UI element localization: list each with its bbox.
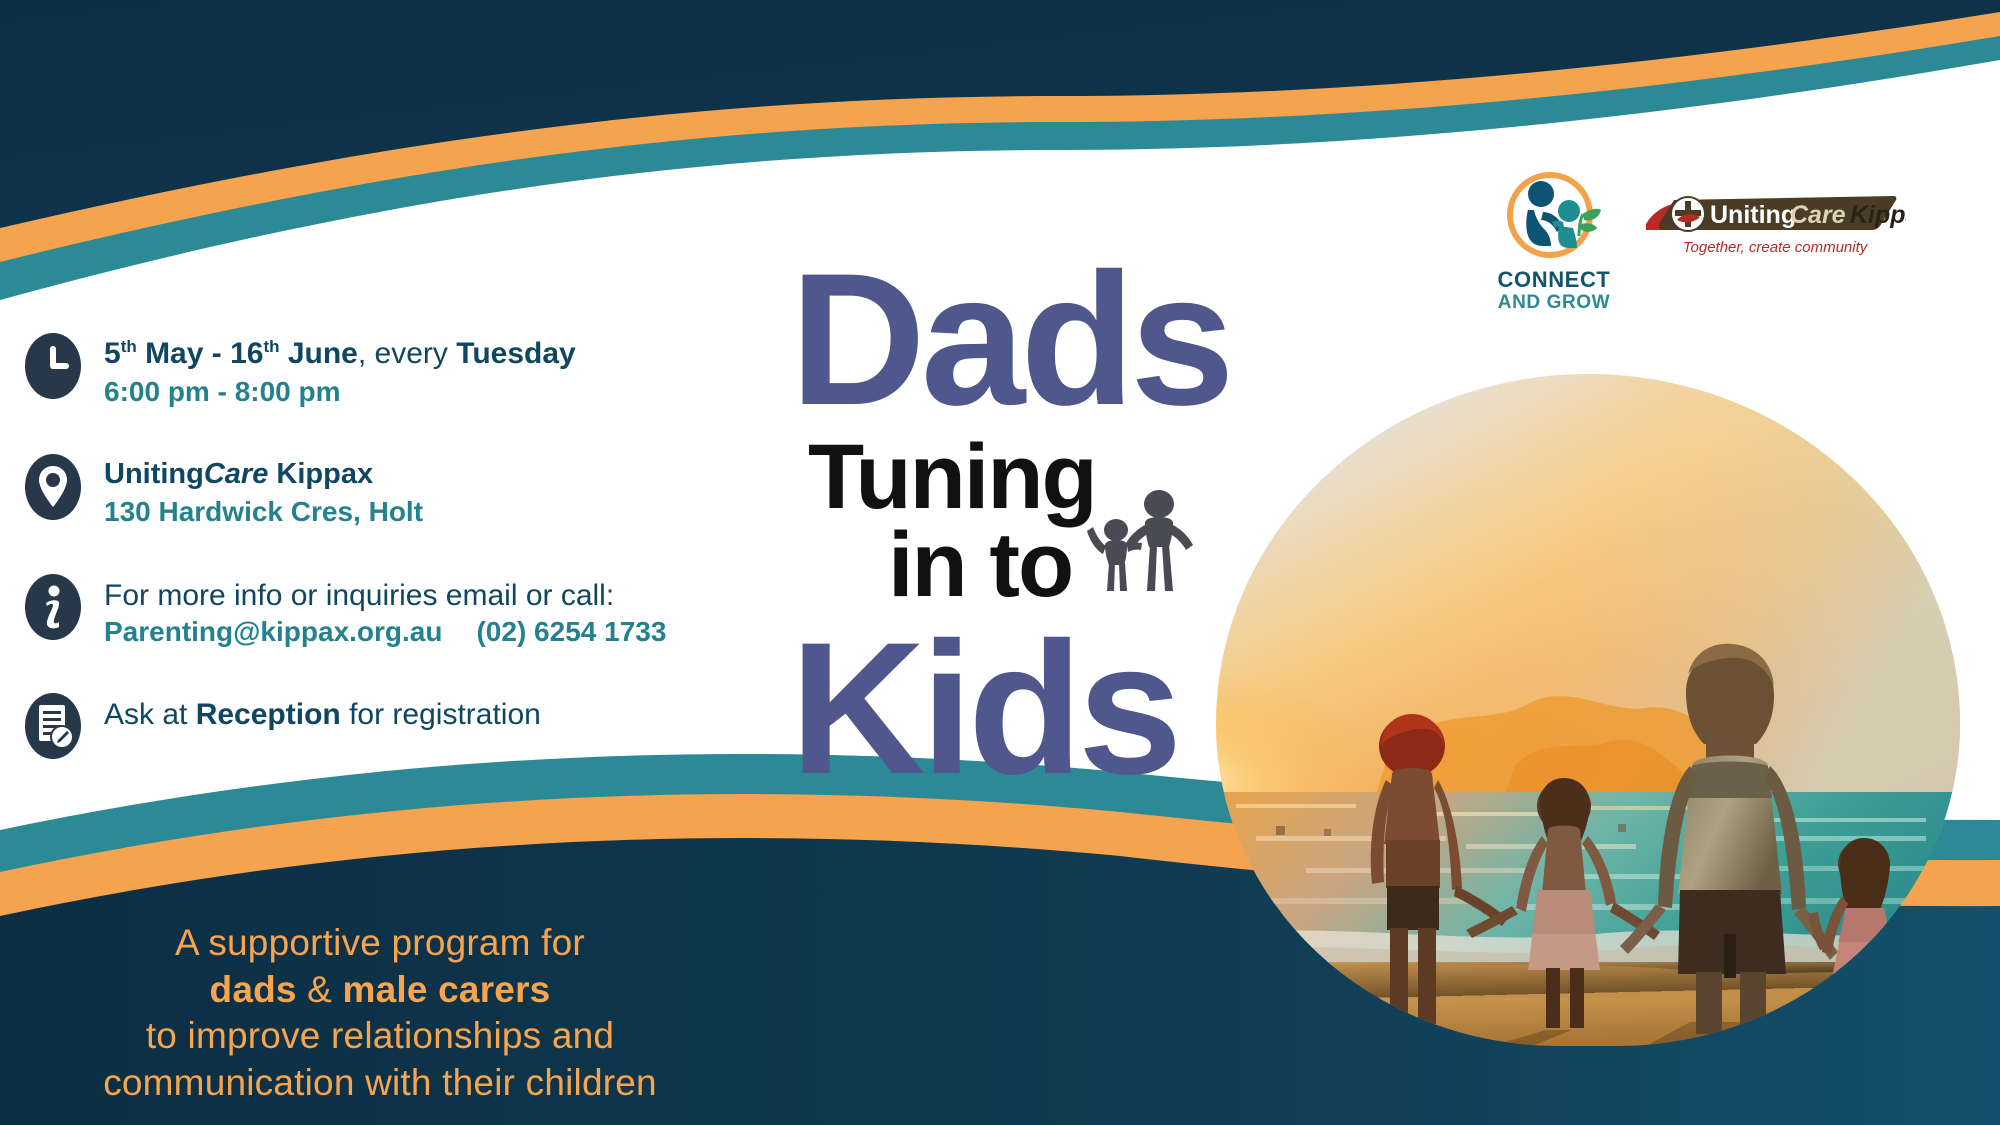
venue-address: 130 Hardwick Cres, Holt (104, 494, 423, 529)
adult-and-child-figures-icon (1085, 487, 1200, 597)
connect-and-grow-line2: AND GROW (1490, 292, 1618, 314)
headline-dads: Dads (790, 250, 1390, 429)
contact-prompt: For more info or inquiries email or call… (104, 577, 666, 615)
unitingcare-word-uniting: Uniting (1710, 201, 1796, 229)
poster-canvas: CONNECT AND GROW Uniting Care Kippax Tog… (0, 0, 2000, 1125)
event-date-line: 5th May - 16th June, every Tuesday (104, 336, 576, 372)
tagline-line-4: communication with their children (0, 1060, 760, 1107)
clock-icon (22, 330, 84, 402)
info-text-contact: For more info or inquiries email or call… (104, 571, 666, 649)
connect-and-grow-logo: CONNECT AND GROW (1490, 168, 1618, 314)
info-text-venue: UnitingCare Kippax 130 Hardwick Cres, Ho… (104, 451, 423, 529)
venue-name: UnitingCare Kippax (104, 457, 423, 492)
program-tagline: A supportive program for dads & male car… (0, 920, 760, 1106)
logo-row: CONNECT AND GROW Uniting Care Kippax Tog… (1490, 168, 1906, 314)
info-row-venue: UnitingCare Kippax 130 Hardwick Cres, Ho… (22, 451, 762, 529)
info-row-datetime: 5th May - 16th June, every Tuesday 6:00 … (22, 330, 762, 409)
registration-text: Ask at Reception for registration (104, 696, 541, 734)
unitingcare-kippax-logo: Uniting Care Kippax Together, create com… (1644, 168, 1906, 266)
contact-phone[interactable]: (02) 6254 1733 (476, 616, 666, 647)
info-text-datetime: 5th May - 16th June, every Tuesday 6:00 … (104, 330, 576, 409)
headline-kids: Kids (790, 619, 1390, 798)
contact-details: Parenting@kippax.org.au(02) 6254 1733 (104, 616, 666, 648)
info-row-contact: For more info or inquiries email or call… (22, 571, 762, 649)
contact-email[interactable]: Parenting@kippax.org.au (104, 616, 442, 647)
tagline-line-3: to improve relationships and (0, 1013, 760, 1060)
event-time: 6:00 pm - 8:00 pm (104, 374, 576, 409)
info-icon (22, 571, 84, 643)
info-text-registration: Ask at Reception for registration (104, 690, 541, 734)
info-row-registration: Ask at Reception for registration (22, 690, 762, 762)
event-info-list: 5th May - 16th June, every Tuesday 6:00 … (22, 330, 762, 804)
connect-and-grow-line1: CONNECT (1490, 267, 1618, 292)
tagline-line-1: A supportive program for (0, 920, 760, 967)
unitingcare-word-kippax: Kippax (1850, 201, 1906, 229)
unitingcare-tagline: Together, create community (1683, 239, 1869, 256)
tagline-line-2: dads & male carers (0, 967, 760, 1014)
location-pin-icon (22, 451, 84, 523)
parent-and-child-circle-icon (1501, 168, 1607, 262)
registration-document-icon (22, 690, 84, 762)
unitingcare-word-care: Care (1790, 201, 1846, 229)
